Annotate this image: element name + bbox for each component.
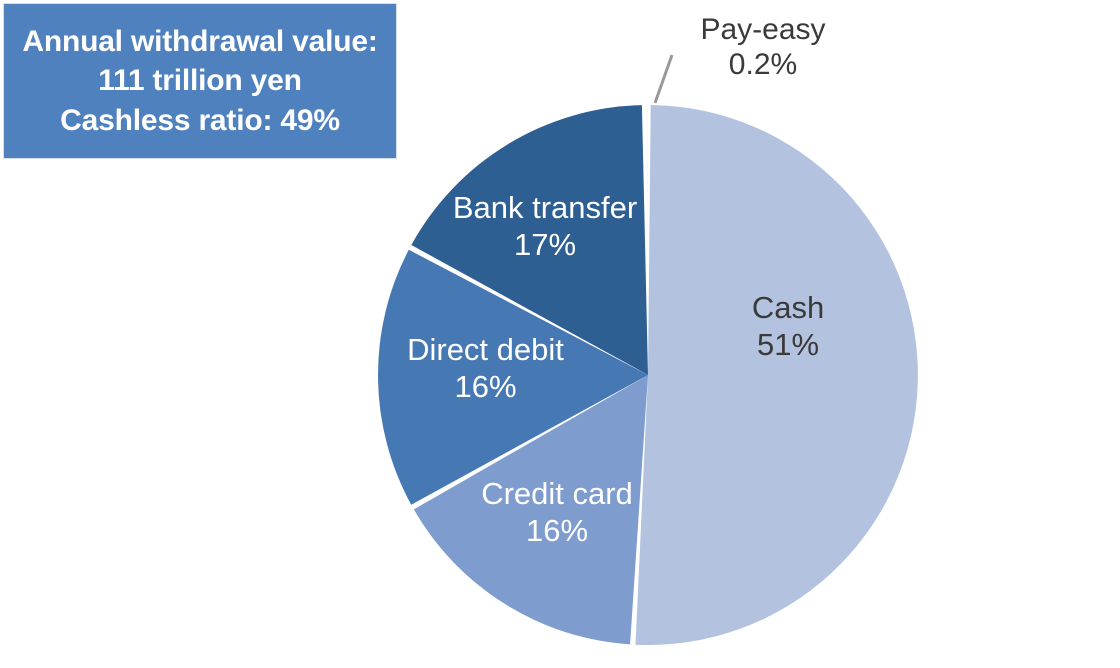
- pie-slice-group: [378, 105, 918, 645]
- pie-slice-pay-easy[interactable]: [647, 105, 648, 375]
- pay-easy-leader-line: [655, 55, 672, 103]
- pie-chart-svg: [0, 0, 1120, 668]
- chart-canvas: Annual withdrawal value: 111 trillion ye…: [0, 0, 1120, 668]
- pie-slice-cash[interactable]: [635, 105, 917, 645]
- pie-chart: [0, 0, 1120, 668]
